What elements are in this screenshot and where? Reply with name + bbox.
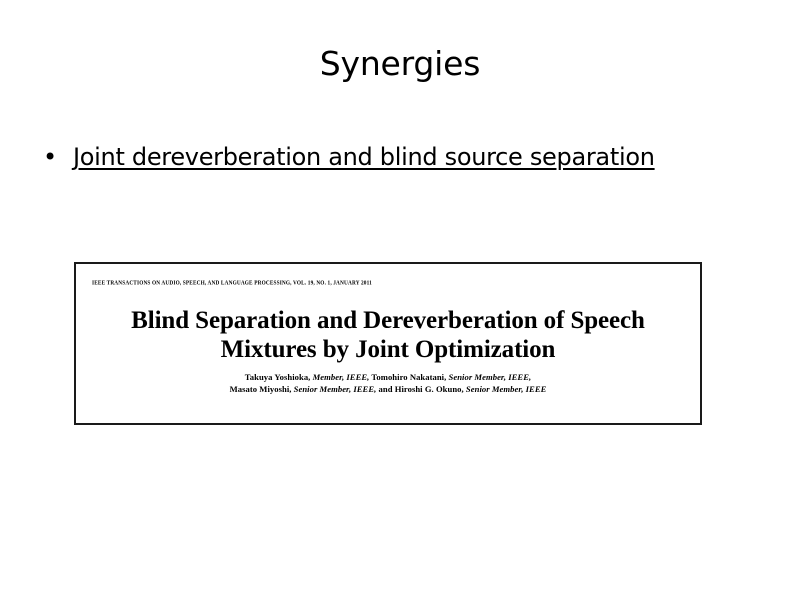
author-membership: Senior Member, IEEE, <box>449 372 532 382</box>
author-membership: Senior Member, IEEE, <box>294 384 377 394</box>
author-names: and Hiroshi G. Okuno, <box>376 384 466 394</box>
paper-running-head: IEEE TRANSACTIONS ON AUDIO, SPEECH, AND … <box>92 280 684 288</box>
paper-content: IEEE TRANSACTIONS ON AUDIO, SPEECH, AND … <box>76 264 700 423</box>
author-names: Tomohiro Nakatani, <box>369 372 448 382</box>
paper-title: Blind Separation and Dereverberation of … <box>100 306 676 364</box>
page-title: Synergies <box>0 44 800 84</box>
author-membership: Member, IEEE, <box>313 372 370 382</box>
author-membership: Senior Member, IEEE <box>466 384 546 394</box>
author-names: Masato Miyoshi, <box>230 384 294 394</box>
paper-author-line: Masato Miyoshi, Senior Member, IEEE, and… <box>96 384 680 396</box>
bullet-list: • Joint dereverberation and blind source… <box>38 140 762 174</box>
paper-author-block: Takuya Yoshioka, Member, IEEE, Tomohiro … <box>96 372 680 395</box>
slide-canvas: Synergies • Joint dereverberation and bl… <box>0 0 800 599</box>
list-item: • Joint dereverberation and blind source… <box>38 140 762 174</box>
bullet-marker-icon: • <box>38 140 73 174</box>
bullet-item-label: Joint dereverberation and blind source s… <box>73 140 762 174</box>
paper-screenshot-figure: IEEE TRANSACTIONS ON AUDIO, SPEECH, AND … <box>74 262 702 425</box>
paper-author-line: Takuya Yoshioka, Member, IEEE, Tomohiro … <box>96 372 680 384</box>
author-names: Takuya Yoshioka, <box>245 372 313 382</box>
